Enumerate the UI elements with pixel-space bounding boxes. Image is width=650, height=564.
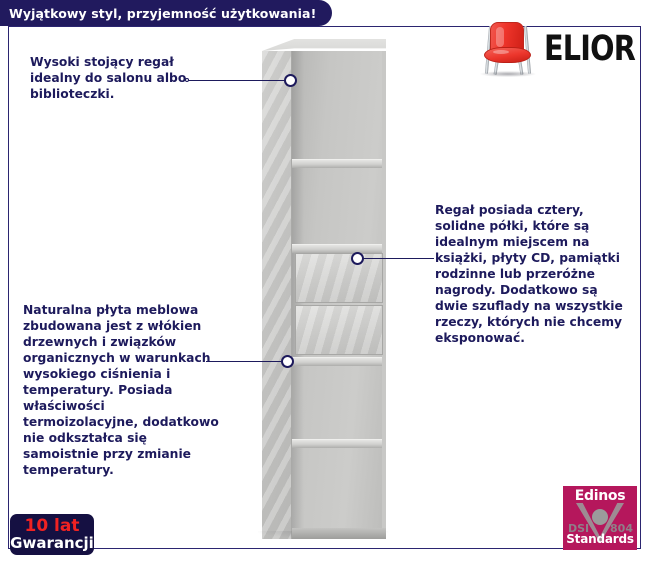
callout-bottom-left-line: temperatury. (23, 463, 233, 479)
callout-right-line: książki, płyty CD, pamiątki (435, 251, 640, 267)
bookcase-shelf (292, 439, 382, 448)
callout-right-line: dwie szuflady na wszystkie (435, 299, 640, 315)
callout-top-left-line: idealny do salonu albo (30, 71, 245, 87)
warranty-badge: 10 lat Gwarancji (10, 514, 94, 555)
callout-right-line: Regał posiada cztery, (435, 203, 640, 219)
callout-bottom-left: Naturalna płyta meblowa zbudowana jest z… (23, 303, 233, 479)
callout-top-left-line: biblioteczki. (30, 87, 245, 103)
hotspot-marker-right[interactable] (351, 252, 364, 265)
brand-logo: ELIOR (478, 18, 638, 80)
red-chair-icon (478, 20, 538, 78)
callout-bottom-left-line: temperatury. Posiada (23, 383, 233, 399)
callout-bottom-left-line: właściwości (23, 399, 233, 415)
bookcase-drawer (295, 253, 383, 303)
callout-top-left: Wysoki stojący regał idealny do salonu a… (30, 55, 245, 103)
callout-bottom-left-line: zbudowana jest z włókien (23, 319, 233, 335)
leader-line-top-left (188, 80, 286, 81)
chair-shadow (480, 71, 536, 77)
bookcase-bottom-panel (292, 528, 386, 539)
header-banner: Wyjątkowy styl, przyjemność użytkowania! (0, 0, 332, 26)
callout-bottom-left-line: drzewnych i związków (23, 335, 233, 351)
edinos-dot-icon (592, 509, 608, 525)
hotspot-marker-bottom-left[interactable] (281, 355, 294, 368)
callout-bottom-left-line: termoizolacyjne, dodatkowo (23, 415, 233, 431)
callout-right-line: nagrody. Dodatkowo są (435, 283, 640, 299)
callout-right-line: solidne półki, które są (435, 219, 640, 235)
leader-line-right (362, 258, 434, 259)
callout-bottom-left-line: organicznych w warunkach (23, 351, 233, 367)
edinos-standards-badge: Edinos DSI 804 Standards (563, 486, 637, 550)
product-image-bookcase (258, 33, 388, 538)
header-banner-text: Wyjątkowy styl, przyjemność użytkowania! (9, 6, 316, 21)
leader-line-bottom-left (206, 361, 288, 362)
edinos-badge-title: Edinos (563, 488, 637, 504)
infographic-page: Wyjątkowy styl, przyjemność użytkowania!… (0, 0, 650, 564)
callout-right-line: idealnym miejscem na (435, 235, 640, 251)
callout-right-line: eksponować. (435, 331, 640, 347)
edinos-badge-standards-label: Standards (563, 532, 637, 546)
callout-bottom-left-line: wysokiego ciśnienia i (23, 367, 233, 383)
brand-wordmark: ELIOR (544, 32, 635, 67)
warranty-badge-label: Gwarancji (10, 535, 94, 552)
chair-seat (484, 47, 531, 63)
callout-right: Regał posiada cztery, solidne półki, któ… (435, 203, 640, 347)
bookcase-body (262, 39, 386, 536)
callout-bottom-left-line: nie odkształca się (23, 431, 233, 447)
hotspot-marker-top-left[interactable] (284, 74, 297, 87)
warranty-badge-years: 10 lat (24, 518, 79, 535)
bookcase-shelf (292, 244, 382, 253)
callout-bottom-left-line: samoistnie przy zmianie (23, 447, 233, 463)
callout-top-left-line: Wysoki stojący regał (30, 55, 245, 71)
callout-right-line: rzeczy, których nie chcemy (435, 315, 640, 331)
bookcase-left-side-panel (262, 51, 292, 539)
bookcase-drawer (295, 305, 383, 355)
callout-bottom-left-line: Naturalna płyta meblowa (23, 303, 233, 319)
callout-right-line: rodzinne lub przeróżne (435, 267, 640, 283)
bookcase-shelf (292, 357, 382, 366)
bookcase-shelf (292, 159, 382, 168)
